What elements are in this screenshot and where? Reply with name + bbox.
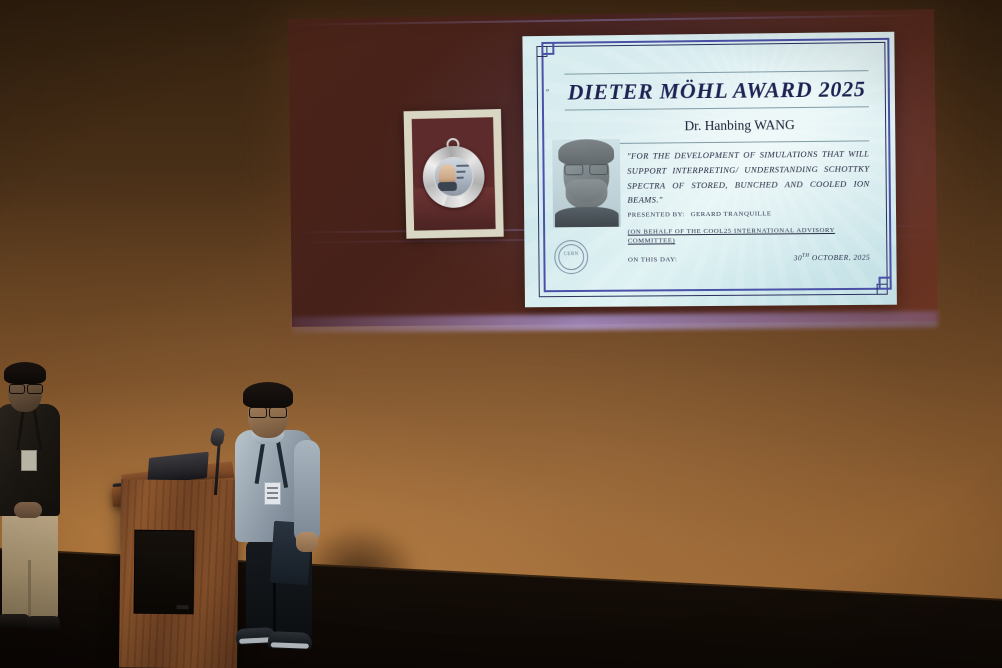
presented-by-label: PRESENTED BY: xyxy=(628,210,685,220)
framed-medal-photo xyxy=(404,109,504,239)
attendee-badge xyxy=(21,450,37,471)
on-behalf-of-text: (ON BEHALF OF THE COOL25 INTERNATIONAL A… xyxy=(628,227,835,245)
certificate-portrait-photo xyxy=(552,139,621,227)
medal-portrait-inset xyxy=(433,157,474,198)
certificate-citation: "FOR THE DEVELOPMENT OF SIMULATIONS THAT… xyxy=(627,146,870,207)
presenter-leg-split xyxy=(273,582,276,636)
presented-by-row: PRESENTED BY: GERARD TRANQUILLE xyxy=(628,209,870,220)
portrait-beard xyxy=(566,179,608,209)
certificate-inner-notch-bottom-right xyxy=(879,277,892,290)
presenter-at-podium xyxy=(228,382,320,668)
date-rest: OCTOBER, 2025 xyxy=(810,253,871,263)
conference-photo-scene: ” DIETER MÖHL AWARD 2025 Dr. Hanbing WAN… xyxy=(0,0,1002,668)
attendee-clasped-hands xyxy=(14,502,42,518)
presenter-hair xyxy=(243,382,293,408)
on-behalf-of-row: (ON BEHALF OF THE COOL25 INTERNATIONAL A… xyxy=(628,226,870,246)
presented-by-name: GERARD TRANQUILLE xyxy=(691,209,772,219)
date-row: ON THIS DAY: 30TH OCTOBER, 2025 xyxy=(628,253,870,265)
seal-label: CERN xyxy=(555,252,587,257)
attendee-right-shoe xyxy=(26,616,60,630)
certificate-date: 30TH OCTOBER, 2025 xyxy=(794,253,871,264)
certificate-meta-block: PRESENTED BY: GERARD TRANQUILLE (ON BEHA… xyxy=(628,209,871,265)
portrait-shoulders xyxy=(555,207,619,228)
attendee-glasses-icon xyxy=(9,384,43,392)
certificate-seal: CERN xyxy=(554,240,588,274)
certificate-title: DIETER MÖHL AWARD 2025 xyxy=(565,76,869,105)
podium-speaker-grille xyxy=(134,530,195,615)
on-this-day-label: ON THIS DAY: xyxy=(628,255,677,264)
presenter-right-shoe xyxy=(268,631,313,650)
presenter-badge xyxy=(264,482,281,505)
certificate-corner-mark: ” xyxy=(545,88,550,97)
date-day: 30 xyxy=(794,253,803,262)
presenter-glasses-icon xyxy=(248,407,288,416)
certificate-inner-notch-top-left xyxy=(541,42,554,55)
date-ordinal-suffix: TH xyxy=(802,254,809,259)
microphone-icon xyxy=(210,427,226,447)
portrait-glasses-icon xyxy=(564,164,608,173)
standing-attendee xyxy=(0,362,68,652)
presenter-hand xyxy=(296,532,318,552)
medal-inscription-lines xyxy=(456,165,469,183)
attendee-trouser-split xyxy=(28,560,31,620)
portrait-hair xyxy=(558,139,614,165)
medal-portrait-face xyxy=(438,164,455,190)
presenter-arm xyxy=(294,440,320,544)
certificate-recipient-name: Dr. Hanbing WANG xyxy=(611,116,869,135)
award-certificate: ” DIETER MÖHL AWARD 2025 Dr. Hanbing WAN… xyxy=(522,32,897,308)
attendee-hair xyxy=(4,362,46,384)
